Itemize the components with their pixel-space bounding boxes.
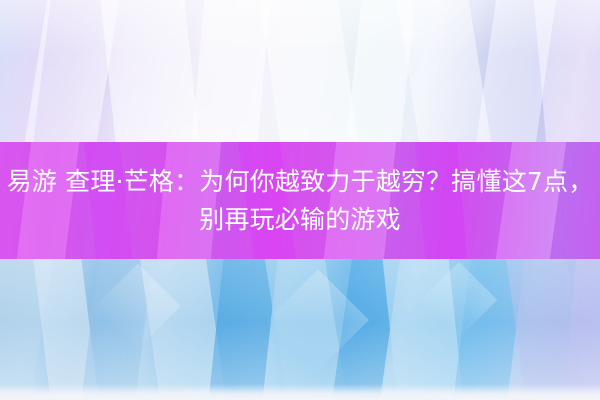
top-gradient-panel (0, 0, 600, 143)
cover-image: 易游 查理·芒格：为何你越致力于越穷？搞懂这7点，别再玩必输的游戏 (0, 0, 600, 400)
title-band: 易游 查理·芒格：为何你越致力于越穷？搞懂这7点，别再玩必输的游戏 (0, 142, 600, 260)
bottom-gradient-panel (0, 259, 600, 400)
cover-title: 易游 查理·芒格：为何你越致力于越穷？搞懂这7点，别再玩必输的游戏 (0, 163, 600, 239)
footer-haze (0, 384, 600, 400)
top-overlay-veil (0, 0, 600, 143)
bottom-overlay-veil (0, 259, 600, 400)
